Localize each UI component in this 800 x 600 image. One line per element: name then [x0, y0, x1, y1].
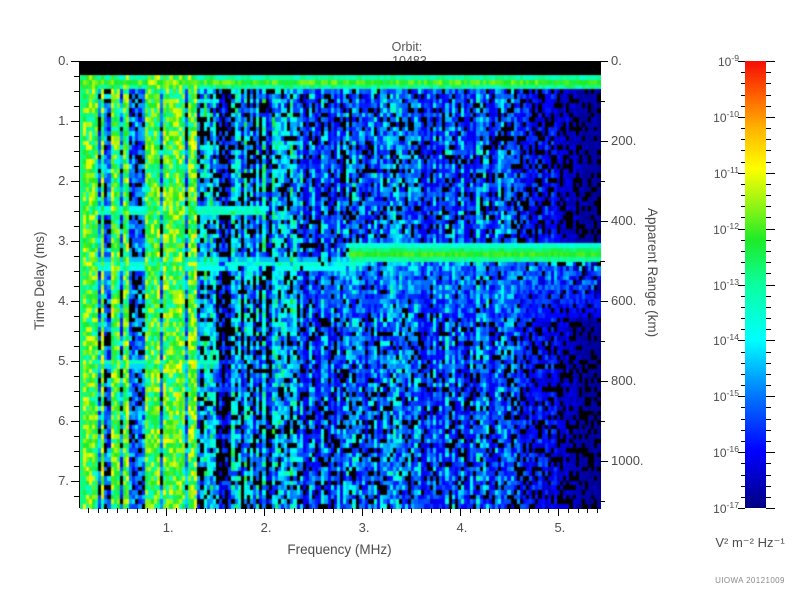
x-tick-major	[460, 508, 461, 516]
x-tick-minor	[117, 508, 118, 513]
y-left-tick-label: 1.	[43, 113, 69, 128]
y-right-tick-label: 400.	[611, 213, 636, 228]
y-left-tick-minor	[74, 346, 79, 347]
y-right-tick-label: 800.	[611, 373, 636, 388]
x-tick-minor	[470, 508, 471, 513]
y-right-tick-minor	[600, 181, 605, 182]
colorbar-tick-minor	[766, 441, 771, 442]
y-right-tick-minor	[600, 101, 605, 102]
colorbar-tick-label: 10-9	[697, 53, 739, 69]
colorbar-tick-minor	[766, 139, 771, 140]
x-tick-minor	[391, 508, 392, 513]
x-tick-minor	[597, 508, 598, 513]
x-tick-top	[489, 61, 490, 66]
colorbar-tick-minor-left	[741, 307, 745, 308]
colorbar-tick-major	[738, 396, 745, 397]
x-tick-top	[411, 61, 412, 66]
colorbar-tick-minor-left	[741, 83, 745, 84]
colorbar-tick-minor-left	[741, 486, 745, 487]
colorbar-tick-label: 10-17	[697, 500, 739, 516]
x-tick-top	[509, 61, 510, 66]
colorbar-tick-minor	[766, 251, 771, 252]
x-tick-top	[303, 61, 304, 66]
colorbar-gradient	[745, 61, 766, 508]
y-left-tick-minor	[74, 496, 79, 497]
y-left-tick-minor	[74, 226, 79, 227]
colorbar-tick-minor-left	[741, 329, 745, 330]
colorbar-tick-minor	[766, 363, 771, 364]
colorbar-tick-major-right	[766, 508, 775, 509]
colorbar-tick-minor	[766, 95, 771, 96]
x-tick-top	[176, 61, 177, 66]
y-left-tick-minor	[74, 136, 79, 137]
x-tick-top	[548, 61, 549, 66]
y-left-tick-minor	[74, 211, 79, 212]
colorbar-tick-minor-left	[741, 463, 745, 464]
x-tick-label: 4.	[451, 520, 473, 535]
x-tick-minor	[284, 508, 285, 513]
x-tick-top	[264, 61, 265, 69]
x-tick-minor	[519, 508, 520, 513]
colorbar-tick-label: 10-10	[697, 109, 739, 125]
x-tick-top	[421, 61, 422, 66]
x-tick-minor	[186, 508, 187, 513]
colorbar-tick-minor	[766, 296, 771, 297]
x-tick-top	[352, 61, 353, 66]
x-tick-top	[215, 61, 216, 66]
y-left-tick-minor	[74, 76, 79, 77]
colorbar-tick-minor-left	[741, 128, 745, 129]
colorbar-tick-major-right	[766, 229, 775, 230]
y-left-tick-minor	[74, 466, 79, 467]
colorbar-tick-minor	[766, 262, 771, 263]
colorbar-tick-major	[738, 61, 745, 62]
colorbar-tick-minor-left	[741, 106, 745, 107]
colorbar-tick-minor-left	[741, 240, 745, 241]
colorbar-tick-minor-left	[741, 441, 745, 442]
colorbar-tick-minor	[766, 419, 771, 420]
y-right-tick-minor	[600, 341, 605, 342]
y-right-tick-major	[600, 61, 608, 62]
x-tick-top	[196, 61, 197, 66]
y-left-tick-minor	[74, 271, 79, 272]
colorbar-tick-minor	[766, 329, 771, 330]
x-tick-top	[440, 61, 441, 66]
x-tick-label: 3.	[353, 520, 375, 535]
y-left-tick-major	[71, 421, 79, 422]
colorbar-tick-minor-left	[741, 72, 745, 73]
colorbar-tick-minor-left	[741, 184, 745, 185]
y-left-tick-major	[71, 481, 79, 482]
y-left-tick-label: 7.	[43, 473, 69, 488]
x-tick-minor	[245, 508, 246, 513]
colorbar-tick-minor	[766, 128, 771, 129]
colorbar-tick-minor	[766, 318, 771, 319]
y-right-tick-minor	[600, 501, 605, 502]
x-tick-top	[333, 61, 334, 66]
x-tick-top	[156, 61, 157, 66]
y-right-tick-label: 200.	[611, 133, 636, 148]
x-tick-minor	[127, 508, 128, 513]
colorbar-tick-minor	[766, 206, 771, 207]
y-right-tick-minor	[600, 421, 605, 422]
colorbar-tick-minor-left	[741, 407, 745, 408]
colorbar-tick-minor-left	[741, 95, 745, 96]
colorbar-tick-minor	[766, 83, 771, 84]
x-tick-top	[107, 61, 108, 66]
colorbar-tick-minor-left	[741, 162, 745, 163]
x-tick-top	[480, 61, 481, 66]
x-tick-top	[401, 61, 402, 66]
colorbar-tick-major	[738, 340, 745, 341]
y-left-tick-minor	[74, 316, 79, 317]
colorbar-tick-minor	[766, 184, 771, 185]
x-tick-top	[147, 61, 148, 66]
x-tick-minor	[352, 508, 353, 513]
colorbar-tick-minor	[766, 486, 771, 487]
y-left-tick-major	[71, 361, 79, 362]
y-right-tick-major	[600, 381, 608, 382]
x-tick-top	[166, 61, 167, 69]
x-tick-top	[127, 61, 128, 66]
y-left-tick-major	[71, 121, 79, 122]
colorbar-tick-major-right	[766, 452, 775, 453]
x-tick-minor	[342, 508, 343, 513]
colorbar-tick-minor-left	[741, 262, 745, 263]
x-axis-title: Frequency (MHz)	[0, 541, 679, 559]
colorbar-tick-minor	[766, 273, 771, 274]
colorbar-units: V² m⁻² Hz⁻¹	[700, 534, 800, 552]
x-tick-top	[568, 61, 569, 66]
x-tick-minor	[450, 508, 451, 513]
colorbar-tick-major-right	[766, 173, 775, 174]
y-axis-left-title: Time Delay (ms)	[32, 330, 131, 345]
y-left-tick-minor	[74, 391, 79, 392]
x-tick-minor	[303, 508, 304, 513]
ionogram-heatmap	[80, 62, 601, 509]
x-tick-minor	[156, 508, 157, 513]
colorbar-tick-minor	[766, 162, 771, 163]
colorbar-tick-minor-left	[741, 352, 745, 353]
x-tick-minor	[489, 508, 490, 513]
x-tick-minor	[137, 508, 138, 513]
y-left-tick-label: 5.	[43, 353, 69, 368]
x-tick-minor	[147, 508, 148, 513]
colorbar-tick-minor-left	[741, 363, 745, 364]
y-left-tick-major	[71, 241, 79, 242]
x-tick-top	[342, 61, 343, 66]
x-tick-major	[166, 508, 167, 516]
colorbar-tick-major	[738, 508, 745, 509]
colorbar-tick-minor-left	[741, 273, 745, 274]
x-tick-minor	[499, 508, 500, 513]
x-tick-minor	[205, 508, 206, 513]
x-tick-top	[294, 61, 295, 66]
x-tick-minor	[372, 508, 373, 513]
y-left-tick-minor	[74, 91, 79, 92]
x-tick-label: 2.	[255, 520, 277, 535]
colorbar-tick-minor-left	[741, 497, 745, 498]
x-tick-top	[254, 61, 255, 66]
y-right-tick-major	[600, 221, 608, 222]
x-tick-minor	[538, 508, 539, 513]
colorbar-tick-major-right	[766, 285, 775, 286]
colorbar-tick-minor-left	[741, 251, 745, 252]
x-tick-minor	[215, 508, 216, 513]
colorbar-tick-label: 10-13	[697, 277, 739, 293]
colorbar-tick-label: 10-15	[697, 388, 739, 404]
colorbar-tick-major-right	[766, 340, 775, 341]
x-tick-top	[225, 61, 226, 66]
colorbar-tick-label: 10-14	[697, 332, 739, 348]
colorbar-tick-label: 10-11	[697, 165, 739, 181]
x-tick-top	[391, 61, 392, 66]
x-tick-top	[274, 61, 275, 66]
credit-text: UIOWA 20121009	[700, 570, 800, 588]
x-tick-minor	[529, 508, 530, 513]
colorbar-tick-major-right	[766, 117, 775, 118]
y-right-tick-minor	[600, 261, 605, 262]
x-tick-label: 1.	[157, 520, 179, 535]
x-tick-top	[284, 61, 285, 66]
colorbar-tick-major	[738, 452, 745, 453]
colorbar-tick-minor	[766, 150, 771, 151]
y-right-tick-label: 1000.	[611, 453, 644, 468]
x-tick-minor	[421, 508, 422, 513]
x-tick-minor	[431, 508, 432, 513]
x-tick-minor	[568, 508, 569, 513]
x-tick-top	[499, 61, 500, 66]
y-right-tick-label: 0.	[611, 53, 622, 68]
y-left-tick-label: 2.	[43, 173, 69, 188]
colorbar-tick-minor-left	[741, 385, 745, 386]
colorbar-tick-minor-left	[741, 475, 745, 476]
x-tick-major	[362, 508, 363, 516]
x-tick-top	[558, 61, 559, 69]
x-tick-top	[117, 61, 118, 66]
x-tick-minor	[196, 508, 197, 513]
y-left-tick-label: 6.	[43, 413, 69, 428]
y-left-tick-minor	[74, 196, 79, 197]
x-tick-top	[205, 61, 206, 66]
x-tick-minor	[274, 508, 275, 513]
x-tick-top	[186, 61, 187, 66]
colorbar-tick-minor-left	[741, 206, 745, 207]
x-tick-top	[245, 61, 246, 66]
y-left-tick-minor	[74, 106, 79, 107]
x-tick-top	[597, 61, 598, 66]
x-tick-minor	[411, 508, 412, 513]
x-tick-minor	[254, 508, 255, 513]
x-tick-top	[470, 61, 471, 66]
y-left-tick-major	[71, 181, 79, 182]
y-left-tick-minor	[74, 166, 79, 167]
ionogram-plot-area	[79, 61, 600, 508]
x-tick-top	[529, 61, 530, 66]
y-left-tick-minor	[74, 286, 79, 287]
colorbar-tick-minor-left	[741, 419, 745, 420]
x-tick-major	[264, 508, 265, 516]
colorbar-tick-minor	[766, 475, 771, 476]
colorbar-tick-minor-left	[741, 374, 745, 375]
x-tick-top	[450, 61, 451, 66]
colorbar-tick-major	[738, 229, 745, 230]
colorbar-tick-major-right	[766, 61, 775, 62]
x-tick-minor	[235, 508, 236, 513]
colorbar-tick-minor-left	[741, 150, 745, 151]
x-tick-label: 5.	[549, 520, 571, 535]
colorbar-tick-minor	[766, 72, 771, 73]
colorbar-tick-minor-left	[741, 430, 745, 431]
x-tick-minor	[578, 508, 579, 513]
y-left-tick-minor	[74, 451, 79, 452]
x-tick-minor	[313, 508, 314, 513]
x-tick-top	[323, 61, 324, 66]
x-tick-minor	[176, 508, 177, 513]
y-left-tick-minor	[74, 376, 79, 377]
colorbar-tick-minor	[766, 374, 771, 375]
y-right-tick-major	[600, 141, 608, 142]
x-tick-top	[137, 61, 138, 66]
colorbar-tick-major-right	[766, 396, 775, 397]
y-left-tick-major	[71, 61, 79, 62]
colorbar-tick-minor	[766, 407, 771, 408]
colorbar-tick-minor	[766, 497, 771, 498]
x-tick-minor	[401, 508, 402, 513]
x-tick-minor	[323, 508, 324, 513]
y-left-tick-label: 0.	[43, 53, 69, 68]
x-tick-minor	[333, 508, 334, 513]
colorbar-tick-minor	[766, 106, 771, 107]
x-tick-minor	[587, 508, 588, 513]
orbit-label: Orbit:	[392, 40, 423, 54]
colorbar-tick-minor	[766, 430, 771, 431]
x-tick-top	[98, 61, 99, 66]
colorbar-tick-major	[738, 285, 745, 286]
y-right-tick-major	[600, 301, 608, 302]
colorbar-tick-minor	[766, 385, 771, 386]
colorbar-tick-major	[738, 117, 745, 118]
x-tick-top	[235, 61, 236, 66]
colorbar	[745, 61, 766, 508]
x-tick-minor	[509, 508, 510, 513]
x-tick-top	[431, 61, 432, 66]
y-right-tick-major	[600, 461, 608, 462]
x-tick-top	[538, 61, 539, 66]
y-right-tick-label: 600.	[611, 293, 636, 308]
y-left-tick-minor	[74, 436, 79, 437]
colorbar-tick-minor-left	[741, 139, 745, 140]
colorbar-tick-label: 10-16	[697, 444, 739, 460]
colorbar-tick-minor	[766, 195, 771, 196]
x-tick-top	[382, 61, 383, 66]
colorbar-tick-minor-left	[741, 296, 745, 297]
colorbar-tick-minor	[766, 352, 771, 353]
x-tick-top	[578, 61, 579, 66]
x-tick-minor	[98, 508, 99, 513]
y-left-tick-major	[71, 301, 79, 302]
x-tick-top	[362, 61, 363, 69]
x-tick-major	[558, 508, 559, 516]
colorbar-tick-major	[738, 173, 745, 174]
x-tick-top	[587, 61, 588, 66]
y-left-tick-minor	[74, 256, 79, 257]
colorbar-tick-label: 10-12	[697, 221, 739, 237]
y-left-tick-minor	[74, 151, 79, 152]
colorbar-tick-minor	[766, 240, 771, 241]
x-tick-top	[519, 61, 520, 66]
colorbar-tick-minor	[766, 463, 771, 464]
x-tick-minor	[548, 508, 549, 513]
y-left-tick-minor	[74, 406, 79, 407]
x-tick-top	[372, 61, 373, 66]
x-tick-top	[88, 61, 89, 66]
x-tick-minor	[88, 508, 89, 513]
colorbar-tick-minor	[766, 217, 771, 218]
x-tick-minor	[440, 508, 441, 513]
x-tick-minor	[480, 508, 481, 513]
colorbar-tick-minor	[766, 307, 771, 308]
x-tick-minor	[225, 508, 226, 513]
colorbar-tick-minor-left	[741, 195, 745, 196]
colorbar-tick-minor-left	[741, 217, 745, 218]
x-tick-minor	[294, 508, 295, 513]
x-tick-top	[460, 61, 461, 69]
x-tick-minor	[107, 508, 108, 513]
x-tick-minor	[382, 508, 383, 513]
colorbar-tick-minor-left	[741, 318, 745, 319]
x-tick-top	[313, 61, 314, 66]
